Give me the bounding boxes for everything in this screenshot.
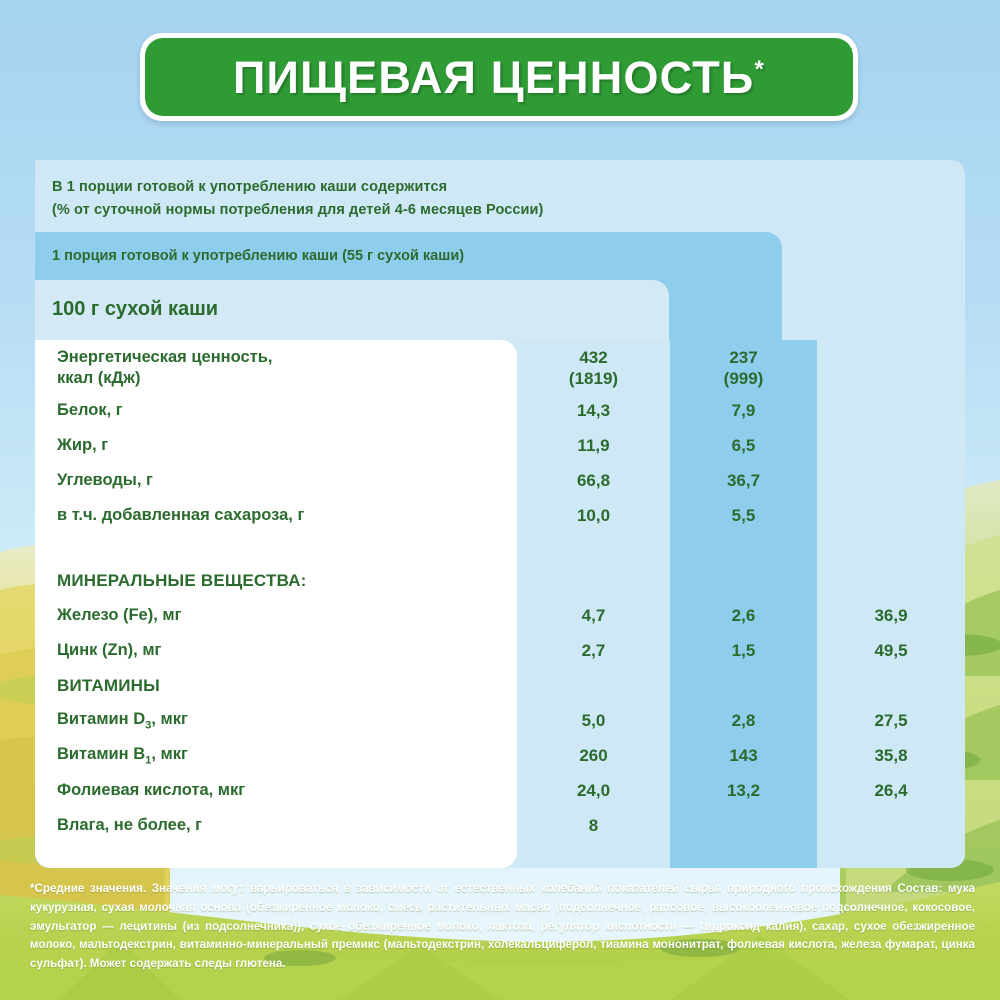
value-portion: 143: [670, 745, 817, 766]
table-section-header: МИНЕРАЛЬНЫЕ ВЕЩЕСТВА:: [0, 563, 1000, 598]
nutrition-table: Энергетическая ценность, ккал (кДж)432 (…: [0, 340, 1000, 843]
header-note-line2: (% от суточной нормы потребления для дет…: [52, 199, 544, 222]
table-section-header: ВИТАМИНЫ: [0, 668, 1000, 703]
value-percent: 49,5: [817, 640, 965, 661]
value-percent: 27,5: [817, 710, 965, 731]
column-header-portion: 1 порция готовой к употреблению каши (55…: [52, 248, 464, 264]
row-label: ВИТАМИНЫ: [57, 675, 160, 696]
value-percent: 35,8: [817, 745, 965, 766]
value-portion: 1,5: [670, 640, 817, 661]
value-dry: 66,8: [517, 470, 670, 491]
row-label: в т.ч. добавленная сахароза, г: [57, 505, 304, 526]
value-dry: 14,3: [517, 400, 670, 421]
header-note-line1: В 1 порции готовой к употреблению каши с…: [52, 176, 544, 199]
value-percent: 36,9: [817, 605, 965, 626]
value-dry: 24,0: [517, 780, 670, 801]
row-label: Жир, г: [57, 435, 108, 456]
table-row: Цинк (Zn), мг2,71,549,5: [0, 633, 1000, 668]
value-portion: 13,2: [670, 780, 817, 801]
value-portion: 2,6: [670, 605, 817, 626]
row-label: Витамин D3, мкг: [57, 709, 188, 732]
nutrition-panel-page: ПИЩЕВАЯ ЦЕННОСТЬ* В 1 порции готовой к у…: [0, 0, 1000, 1000]
title-asterisk: *: [754, 56, 765, 83]
title-banner-inner: ПИЩЕВАЯ ЦЕННОСТЬ*: [145, 38, 853, 116]
table-row: Железо (Fe), мг4,72,636,9: [0, 598, 1000, 633]
value-dry: 8: [517, 815, 670, 836]
value-portion: 7,9: [670, 400, 817, 421]
value-dry: 10,0: [517, 505, 670, 526]
table-row: в т.ч. добавленная сахароза, г10,05,5: [0, 498, 1000, 533]
table-row: Углеводы, г66,836,7: [0, 463, 1000, 498]
page-title-text: ПИЩЕВАЯ ЦЕННОСТЬ: [233, 52, 754, 103]
value-portion: 5,5: [670, 505, 817, 526]
value-dry: 4,7: [517, 605, 670, 626]
row-label: Влага, не более, г: [57, 815, 202, 836]
table-row: Энергетическая ценность, ккал (кДж)432 (…: [0, 340, 1000, 393]
value-dry: 260: [517, 745, 670, 766]
table-row: Жир, г11,96,5: [0, 428, 1000, 463]
column-header-dry: 100 г сухой каши: [52, 298, 218, 321]
page-title: ПИЩЕВАЯ ЦЕННОСТЬ*: [233, 55, 765, 100]
table-row: Фолиевая кислота, мкг24,013,226,4: [0, 773, 1000, 808]
table-row: Влага, не более, г8: [0, 808, 1000, 843]
value-dry: 5,0: [517, 710, 670, 731]
row-label: Углеводы, г: [57, 470, 153, 491]
value-portion: 237 (999): [670, 347, 817, 390]
title-banner: ПИЩЕВАЯ ЦЕННОСТЬ*: [140, 33, 858, 121]
row-label: Железо (Fe), мг: [57, 605, 181, 626]
value-portion: 6,5: [670, 435, 817, 456]
value-dry: 11,9: [517, 435, 670, 456]
table-row: Витамин B1, мкг26014335,8: [0, 738, 1000, 773]
row-label: Фолиевая кислота, мкг: [57, 780, 245, 801]
table-spacer: [0, 533, 1000, 563]
row-label: Витамин B1, мкг: [57, 744, 188, 767]
value-dry: 432 (1819): [517, 347, 670, 390]
value-percent: 26,4: [817, 780, 965, 801]
table-row: Витамин D3, мкг5,02,827,5: [0, 703, 1000, 738]
table-row: Белок, г14,37,9: [0, 393, 1000, 428]
row-label: Энергетическая ценность, ккал (кДж): [57, 347, 272, 389]
row-label: Цинк (Zn), мг: [57, 640, 161, 661]
footnote: *Средние значения. Значения могут варьир…: [30, 880, 975, 974]
value-dry: 2,7: [517, 640, 670, 661]
value-portion: 2,8: [670, 710, 817, 731]
value-portion: 36,7: [670, 470, 817, 491]
row-label: Белок, г: [57, 400, 123, 421]
row-label: МИНЕРАЛЬНЫЕ ВЕЩЕСТВА:: [57, 570, 307, 591]
header-note: В 1 порции готовой к употреблению каши с…: [52, 176, 544, 223]
